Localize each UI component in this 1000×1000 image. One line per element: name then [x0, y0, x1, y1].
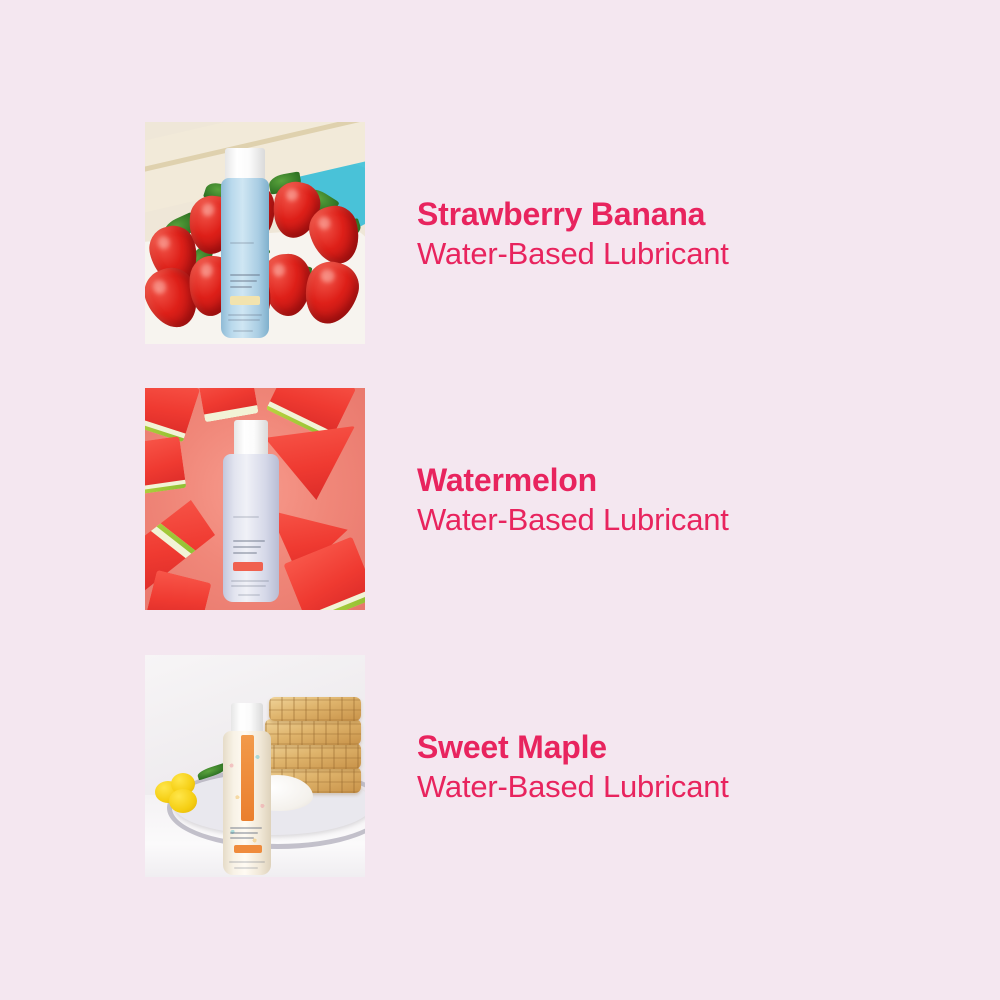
bottle-cap	[225, 148, 265, 182]
bottle-label-text	[233, 552, 257, 554]
bottle-label-text	[230, 827, 262, 829]
bottle-accent-bar	[233, 562, 263, 571]
bottle-label-text	[233, 546, 261, 548]
product-bottle	[223, 420, 279, 602]
bottle-label-text	[230, 242, 254, 244]
bottle-label-text	[229, 861, 265, 863]
bottle-label-text	[228, 314, 262, 316]
bottle-label-text	[231, 580, 269, 582]
product-row[interactable]: Watermelon Water-Based Lubricant	[145, 388, 905, 610]
waffle	[265, 719, 361, 745]
waffle	[269, 697, 361, 721]
product-name: Sweet Maple	[417, 731, 729, 763]
waffle	[261, 743, 361, 769]
product-bottle	[221, 148, 269, 338]
product-name: Strawberry Banana	[417, 198, 729, 230]
bottle-label-text	[230, 837, 254, 839]
product-text-block: Sweet Maple Water-Based Lubricant	[417, 731, 729, 802]
bottle-body	[221, 178, 269, 338]
bottle-label-text	[230, 280, 257, 282]
bottle-label-text	[230, 274, 260, 276]
product-subtitle: Water-Based Lubricant	[417, 504, 729, 535]
product-subtitle: Water-Based Lubricant	[417, 771, 729, 802]
bottle-orange-stripe	[241, 735, 254, 821]
product-list: Strawberry Banana Water-Based Lubricant	[0, 0, 1000, 1000]
bottle-label-text	[233, 330, 253, 332]
bottle-body	[223, 731, 271, 875]
bottle-accent-bar	[230, 296, 260, 305]
product-text-block: Watermelon Water-Based Lubricant	[417, 464, 729, 535]
watermelon-bottle-photo[interactable]	[145, 388, 365, 610]
watermelon-wedge	[145, 436, 186, 496]
strawberry-banana-bottle-photo[interactable]	[145, 122, 365, 344]
product-subtitle: Water-Based Lubricant	[417, 238, 729, 269]
bottle-label-text	[228, 319, 260, 321]
product-bottle	[223, 703, 271, 875]
bottle-accent-bar	[234, 845, 262, 853]
bottle-label-text	[233, 516, 259, 518]
bottle-label-text	[230, 286, 252, 288]
bottle-label-text	[230, 832, 258, 834]
product-row[interactable]: Sweet Maple Water-Based Lubricant	[145, 655, 905, 877]
bottle-cap	[234, 420, 268, 458]
flower-petal	[169, 789, 197, 813]
bottle-body	[223, 454, 279, 602]
product-text-block: Strawberry Banana Water-Based Lubricant	[417, 198, 729, 269]
bottle-label-text	[234, 867, 258, 869]
product-name: Watermelon	[417, 464, 729, 496]
yellow-flower	[155, 773, 203, 815]
bottle-label-text	[238, 594, 260, 596]
product-row[interactable]: Strawberry Banana Water-Based Lubricant	[145, 122, 905, 344]
bottle-label-text	[231, 585, 266, 587]
bottle-label-text	[233, 540, 265, 542]
sweet-maple-bottle-photo[interactable]	[145, 655, 365, 877]
